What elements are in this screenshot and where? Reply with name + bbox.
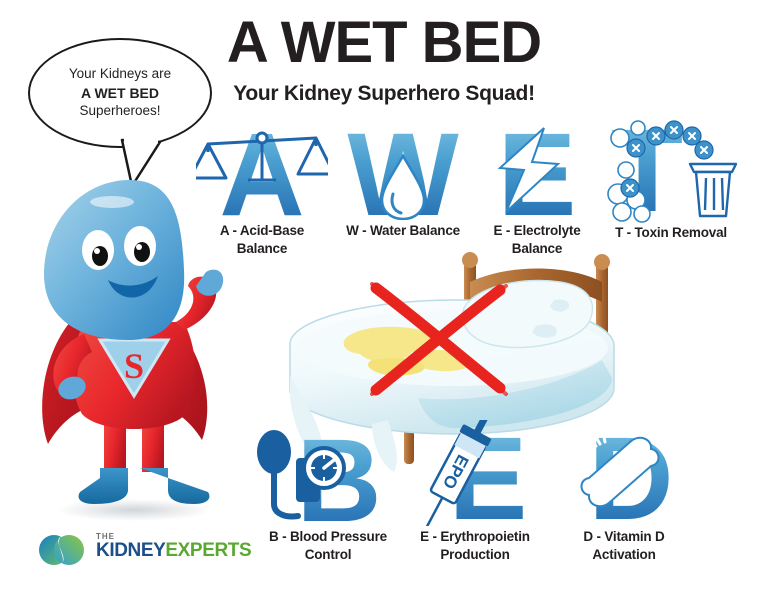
- infographic-canvas: A WET BED Your Kidney Superhero Squad! Y…: [0, 0, 768, 592]
- logo-kidney: KIDNEY: [96, 540, 165, 561]
- caption-b-line2: Control: [252, 546, 404, 564]
- speech-line-2: A WET BED: [81, 84, 159, 103]
- caption-e2-line2: Production: [400, 546, 550, 564]
- letter-cell-t: T: [596, 112, 746, 242]
- mascot-emblem-letter: S: [124, 346, 144, 386]
- caption-d-line2: Activation: [548, 546, 700, 564]
- logo-wordmark: THE KIDNEYEXPERTS: [96, 532, 251, 560]
- bp-tube: [274, 474, 298, 517]
- mascot-pupil-right: [134, 242, 150, 262]
- letter-cell-b: B B - Blood Pressure Control: [252, 422, 404, 563]
- logo-kidney-mark-icon: [38, 528, 86, 572]
- speech-line-1: Your Kidneys are: [69, 65, 171, 83]
- speech-bubble: Your Kidneys are A WET BED Superheroes!: [28, 38, 214, 188]
- letter-glyph-d: D: [588, 420, 673, 538]
- mascot-boot-left: [79, 468, 128, 504]
- caption-e-line2: Balance: [476, 240, 598, 258]
- kidney-experts-logo[interactable]: THE KIDNEYEXPERTS: [38, 528, 248, 576]
- letter-glyph-e2: E: [449, 420, 528, 538]
- letter-glyph-e: E: [476, 116, 598, 234]
- logo-experts: EXPERTS: [165, 540, 251, 561]
- bp-bulb: [257, 430, 291, 474]
- letter-cell-a: A A - Acid-Base Balance: [196, 116, 328, 257]
- caption-a-line2: Balance: [196, 240, 328, 258]
- speech-bubble-body: Your Kidneys are A WET BED Superheroes!: [28, 38, 212, 148]
- mascot-pupil-left: [92, 246, 108, 266]
- letter-cell-e2: E EPO E - Erythropoietin Production: [400, 420, 550, 563]
- letter-glyph-a: A: [196, 116, 328, 234]
- mascot-boot-right: [140, 468, 209, 504]
- syringe-needle: [425, 498, 442, 526]
- letter-cell-e: E E - Electrolyte Balance: [476, 116, 598, 257]
- mascot-fist-right: [196, 270, 223, 296]
- letter-cell-w: W W - Water Balance: [330, 116, 476, 240]
- letter-glyph-t: T: [611, 112, 683, 230]
- letter-glyph-w: W: [330, 116, 476, 234]
- mascot-head-highlight: [90, 196, 134, 208]
- letter-glyph-b: B: [296, 422, 381, 540]
- letter-cell-d: D D - Vitamin D Activation: [548, 420, 700, 563]
- speech-line-3: Superheroes!: [79, 102, 160, 120]
